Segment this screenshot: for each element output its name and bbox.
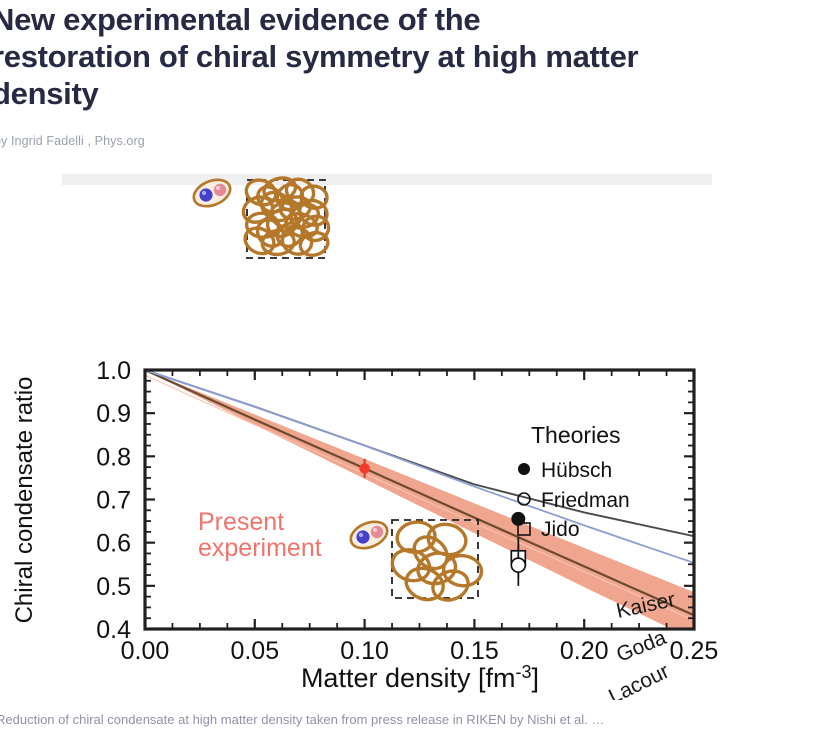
present-experiment-line1: Present: [198, 508, 284, 536]
particle-pink-highlight-icon: [373, 528, 377, 532]
particle-blue-icon: [356, 530, 369, 543]
figure-caption: Reduction of chiral condensate at high m…: [0, 712, 816, 727]
present-experiment-line2: experiment: [198, 534, 322, 562]
legend-label-friedman: Friedman: [541, 489, 630, 512]
x-tick-label: 0.10: [340, 637, 389, 665]
legend-label-hubsch: Hübsch: [541, 459, 612, 482]
marker-open-circle-icon: [511, 558, 525, 572]
x-axis-title: Matter density [fm-3]: [301, 662, 539, 693]
legend-title: Theories: [531, 422, 620, 448]
x-tick-label: 0.05: [230, 637, 279, 665]
y-axis-title: Chiral condensate ratio: [11, 377, 38, 624]
particle-pink-highlight-icon: [216, 186, 220, 190]
particle-blue-icon: [199, 188, 212, 201]
legend-marker-filled-circle-icon: [518, 463, 530, 475]
x-axis-title-base: Matter density [fm: [301, 663, 516, 693]
x-tick-label: 0.20: [560, 637, 609, 665]
x-axis-title-tail: ]: [532, 663, 540, 693]
y-tick-label: 0.9: [96, 400, 131, 428]
particle-pink-icon: [371, 526, 383, 538]
y-tick-label: 0.8: [96, 443, 131, 471]
x-tick-label: 0.25: [670, 637, 719, 665]
y-tick-label: 0.6: [96, 530, 131, 558]
curve-labels: Kaiser Goda Lacour: [605, 588, 677, 700]
x-tick-label: 0.15: [450, 637, 499, 665]
page-title: New experimental evidence of the restora…: [0, 1, 792, 112]
particle-pink-icon: [214, 184, 226, 196]
y-tick-label: 0.7: [96, 487, 131, 515]
y-tick-label: 1.0: [96, 357, 131, 385]
figure-container: Kaiser Goda Lacour Present experiment Th…: [0, 160, 816, 700]
y-tick-label: 0.4: [96, 616, 131, 644]
chart-figure: Kaiser Goda Lacour Present experiment Th…: [0, 160, 816, 700]
curve-label-lacour: Lacour: [605, 660, 673, 700]
particle-pair-icon-top: [190, 175, 234, 211]
x-axis-title-exponent: -3: [516, 662, 532, 682]
particle-blue-highlight-icon: [202, 191, 206, 195]
byline: by Ingrid Fadelli , Phys.org: [0, 134, 145, 148]
marker-present-experiment-icon: [359, 463, 369, 473]
y-tick-label: 0.5: [96, 573, 131, 601]
particle-blue-highlight-icon: [359, 533, 363, 537]
dense-condensate-inset: [239, 174, 332, 258]
legend-label-jido: Jido: [541, 518, 580, 541]
